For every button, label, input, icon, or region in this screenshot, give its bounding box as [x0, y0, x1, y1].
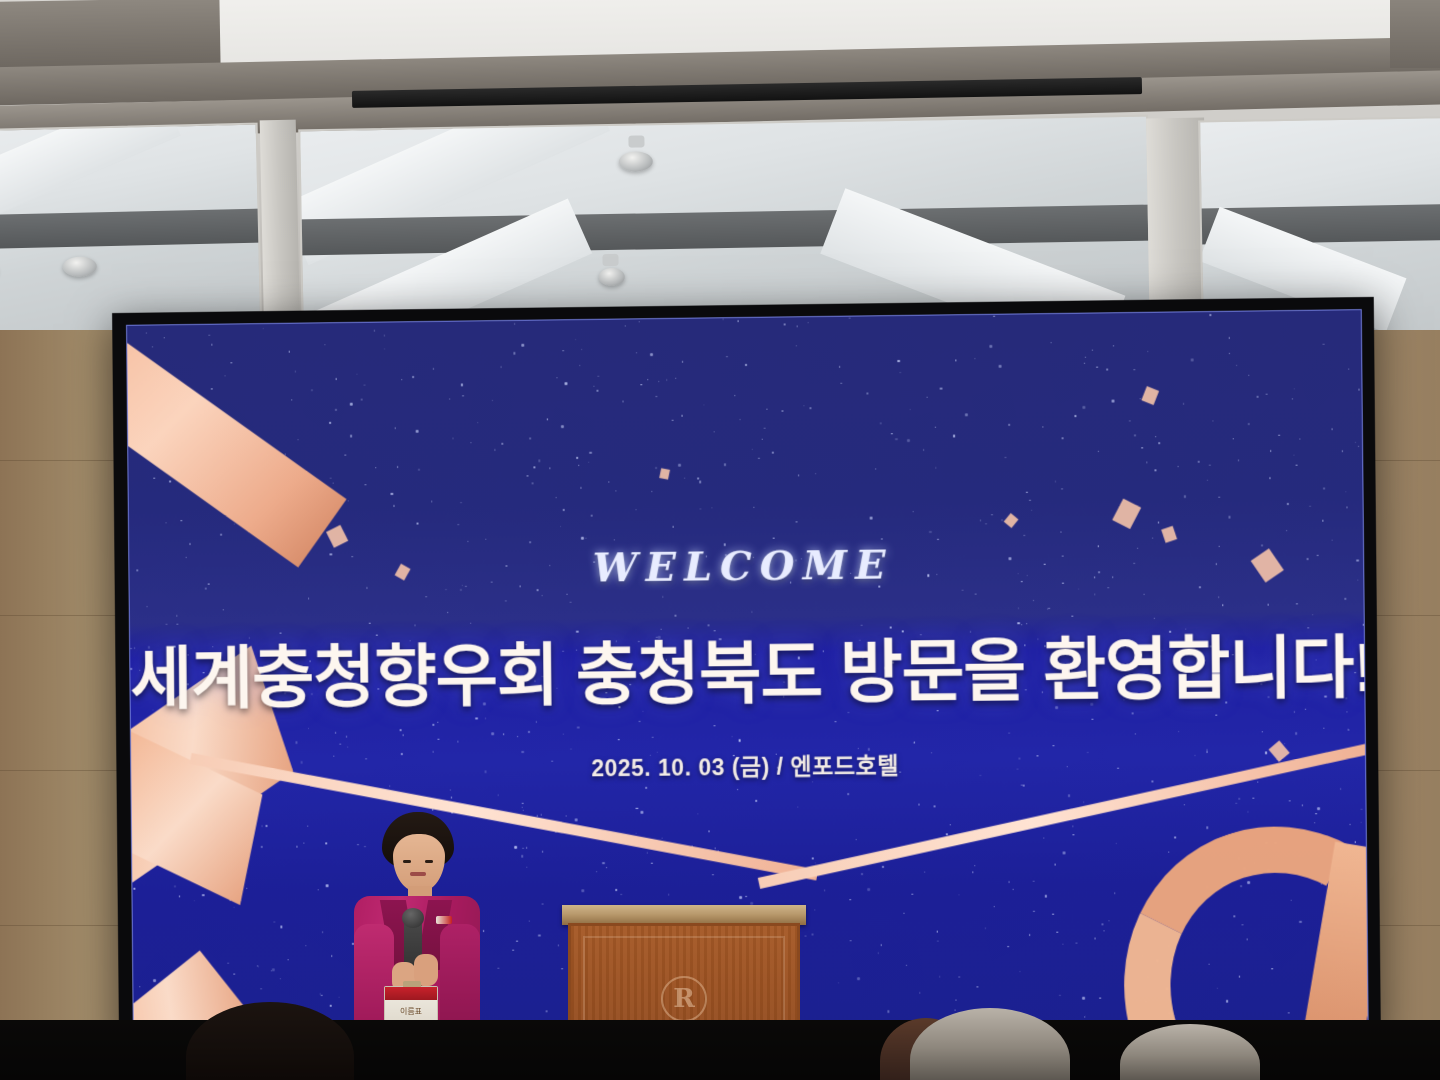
ceiling-beam-dark [1390, 0, 1440, 68]
ceiling-beam-dark [0, 0, 221, 68]
podium-countertop [562, 905, 806, 925]
speaker-mouth [410, 872, 426, 876]
speaker-arm-right [440, 924, 480, 1034]
photo-scene: WELCOME 세계충청향우회 충청북도 방문을 환영합니다! 2025. 10… [0, 0, 1440, 1080]
speaker-face [393, 834, 445, 892]
ramada-logo-mark: R [661, 976, 707, 1022]
badge-header-strip [385, 987, 437, 1000]
ramada-logo-letter: R [663, 984, 705, 1014]
ceiling-glass-pane [0, 123, 262, 330]
microphone-head [402, 908, 424, 928]
camera-stem [602, 254, 618, 266]
window-mullion [260, 120, 301, 330]
ceiling-dome-camera [63, 256, 97, 277]
ceiling-dome-camera [599, 268, 625, 286]
ceiling-glass-pane [298, 115, 1152, 330]
badge-name-text: 이름표 [385, 1006, 437, 1017]
camera-stem [628, 135, 644, 147]
speaker-lapel-pin [436, 916, 452, 924]
event-headline: 세계충청향우회 충청북도 방문을 환영합니다! [130, 612, 1365, 723]
ceiling-dome-camera [619, 151, 653, 172]
ceiling-structure [0, 0, 1440, 330]
